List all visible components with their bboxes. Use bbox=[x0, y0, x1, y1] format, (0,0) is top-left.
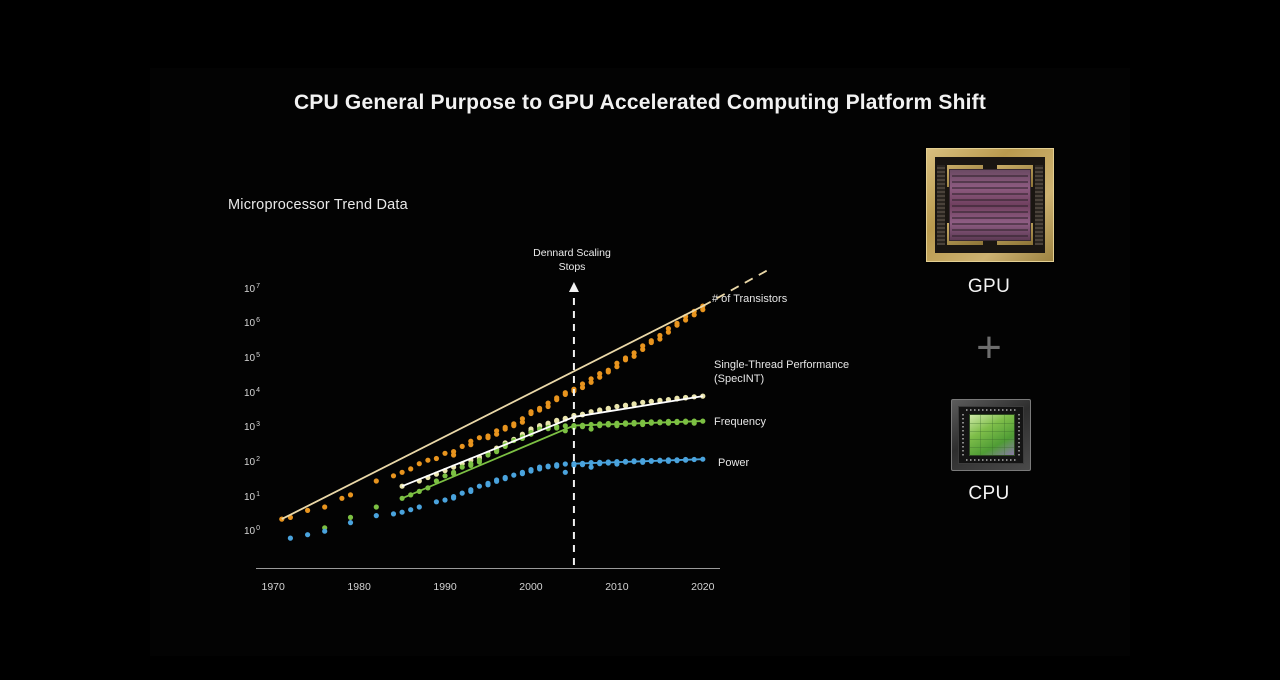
y-axis-tick-label: 104 bbox=[244, 387, 260, 399]
y-axis-tick-label: 107 bbox=[244, 283, 260, 295]
x-axis-tick-label: 2010 bbox=[605, 581, 628, 593]
chart-subtitle: Microprocessor Trend Data bbox=[228, 197, 408, 213]
x-axis-line bbox=[256, 568, 720, 569]
y-axis-tick-label: 101 bbox=[244, 490, 260, 502]
y-axis-tick-label: 103 bbox=[244, 421, 260, 433]
series-label-transistors: # of Transistors bbox=[712, 292, 787, 306]
y-axis-tick-label: 100 bbox=[244, 525, 260, 537]
x-axis-tick-label: 2020 bbox=[691, 581, 714, 593]
series-label-frequency: Frequency bbox=[714, 415, 766, 429]
y-axis-tick-label: 105 bbox=[244, 352, 260, 364]
x-axis-tick-label: 1970 bbox=[261, 581, 284, 593]
slide-root: CPU General Purpose to GPU Accelerated C… bbox=[0, 0, 1280, 680]
y-axis-tick-label: 102 bbox=[244, 456, 260, 468]
cpu-die-image bbox=[951, 399, 1031, 471]
gpu-caption: GPU bbox=[909, 276, 1069, 298]
x-axis-tick-label: 1980 bbox=[347, 581, 370, 593]
plus-icon: + bbox=[976, 326, 1002, 370]
gpu-die-image bbox=[926, 148, 1054, 262]
x-axis-tick-label: 2000 bbox=[519, 581, 542, 593]
page-title: CPU General Purpose to GPU Accelerated C… bbox=[260, 88, 1020, 117]
dennard-annotation-label: Dennard Scaling Stops bbox=[527, 246, 617, 274]
series-label-single-thread: Single-Thread Performance (SpecINT) bbox=[714, 358, 849, 386]
y-axis-tick-label: 106 bbox=[244, 317, 260, 329]
cpu-caption: CPU bbox=[909, 483, 1069, 505]
y-axis-labels: 100101102103104105106107 bbox=[228, 250, 256, 580]
x-axis-tick-label: 1990 bbox=[433, 581, 456, 593]
series-label-power: Power bbox=[718, 456, 749, 470]
